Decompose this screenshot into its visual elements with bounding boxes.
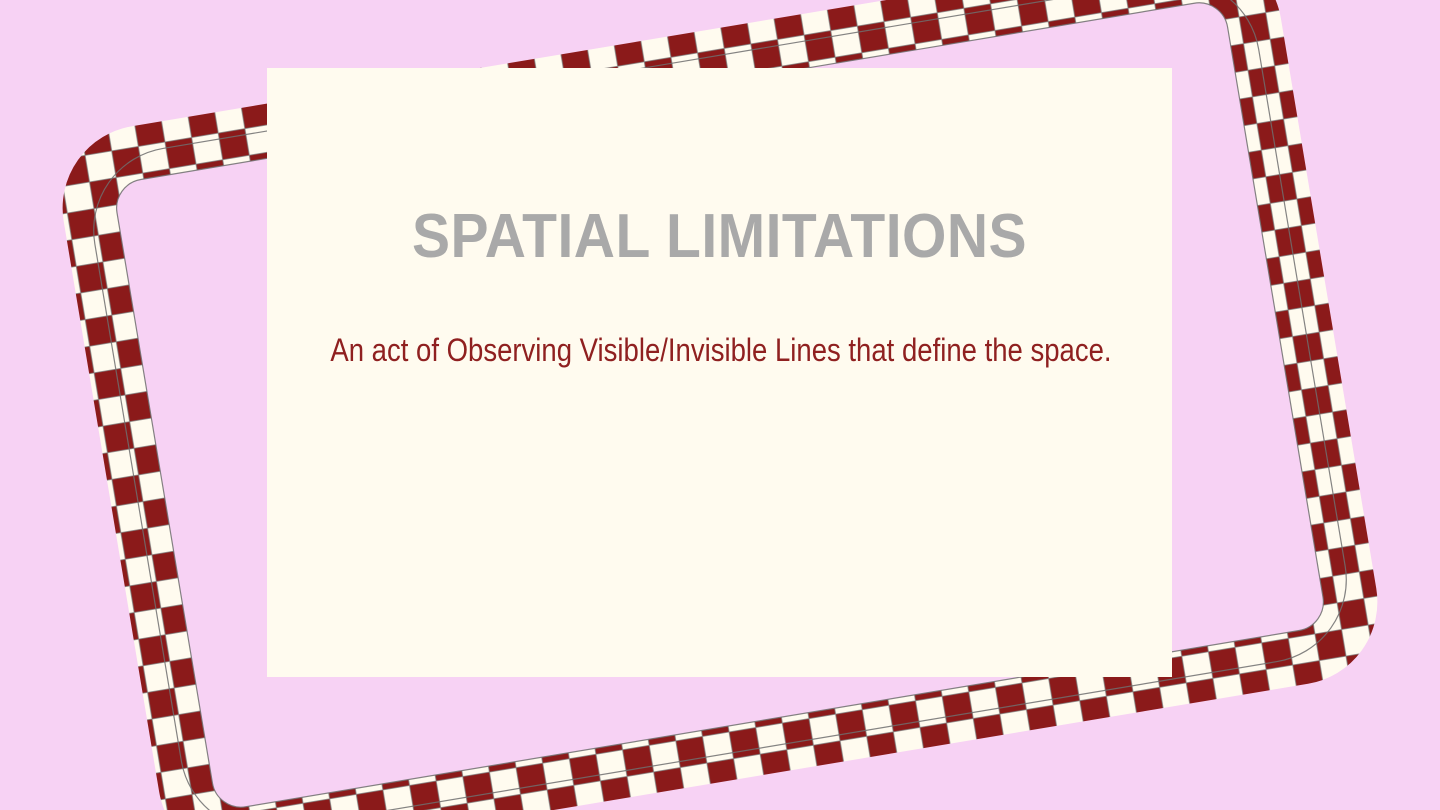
page-subtitle: An act of Observing Visible/Invisible Li… [330,330,1108,372]
card-content: SPATIAL LIMITATIONS An act of Observing … [267,68,1172,677]
page-title: SPATIAL LIMITATIONS [303,204,1136,269]
content-card: SPATIAL LIMITATIONS An act of Observing … [267,68,1172,677]
slide-canvas: SPATIAL LIMITATIONS An act of Observing … [0,0,1440,810]
